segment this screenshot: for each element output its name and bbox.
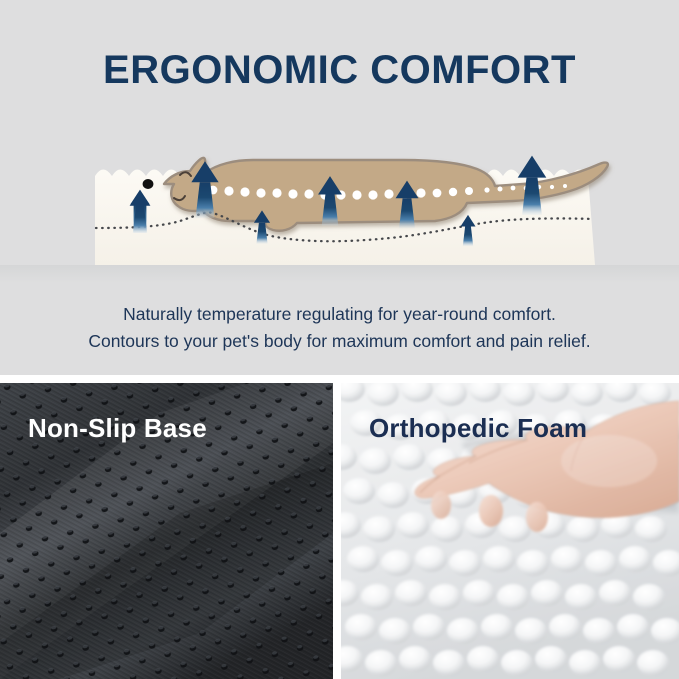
illustration-stage bbox=[0, 118, 679, 283]
panel-orthopedic-foam: Orthopedic Foam bbox=[341, 383, 679, 679]
dog-on-memory-foam-diagram bbox=[0, 118, 679, 283]
panel-label-orthopedic-foam: Orthopedic Foam bbox=[369, 413, 587, 444]
caption-line-2: Contours to your pet's body for maximum … bbox=[0, 328, 679, 355]
dog-nose-icon bbox=[143, 179, 154, 189]
feature-panels: Non-Slip Base bbox=[0, 383, 679, 679]
caption-line-1: Naturally temperature regulating for yea… bbox=[0, 301, 679, 328]
product-feature-infographic: ERGONOMIC COMFORT bbox=[0, 0, 679, 679]
hero-caption: Naturally temperature regulating for yea… bbox=[0, 301, 679, 355]
floor-strip bbox=[0, 265, 679, 283]
panel-label-non-slip-base: Non-Slip Base bbox=[28, 413, 207, 444]
page-title: ERGONOMIC COMFORT bbox=[0, 48, 679, 93]
panel-non-slip-base: Non-Slip Base bbox=[0, 383, 333, 679]
hero-panel: ERGONOMIC COMFORT bbox=[0, 0, 679, 375]
